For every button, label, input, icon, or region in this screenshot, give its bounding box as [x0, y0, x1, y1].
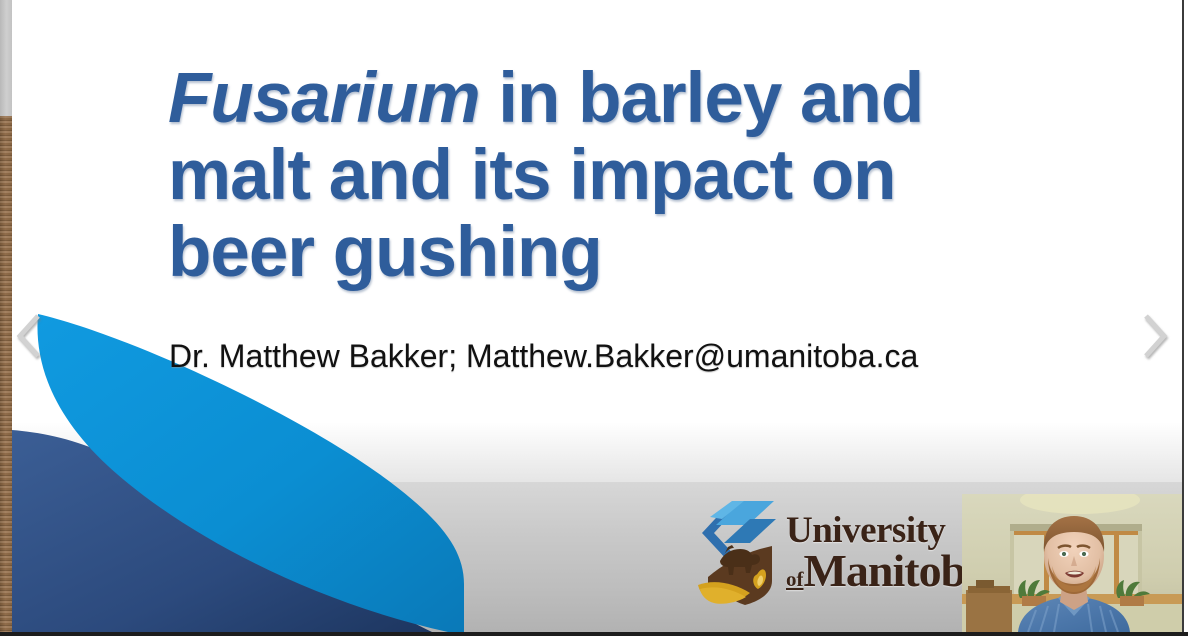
page-title: Fusarium in barley and malt and its impa… [168, 60, 1048, 291]
right-outer-margin [1184, 0, 1188, 636]
slide-viewer: Fusarium in barley and malt and its impa… [0, 0, 1188, 636]
um-wordmark-manitoba-line: ofManitoba [786, 549, 987, 592]
wall-background-strip [0, 0, 12, 116]
um-wordmark: University ofManitoba [786, 514, 987, 592]
um-wordmark-manitoba: Manitoba [804, 545, 988, 596]
slide-subtitle-author: Dr. Matthew Bakker; Matthew.Bakker@umani… [169, 336, 918, 376]
title-line2: malt and its impact on [168, 136, 896, 215]
right-edge-divider [1182, 0, 1184, 636]
um-wordmark-of: of [786, 567, 804, 591]
presenter-webcam-feed[interactable] [962, 494, 1184, 632]
prev-slide-button[interactable] [2, 300, 58, 372]
university-of-manitoba-logo: University ofManitoba [688, 498, 954, 608]
chevron-left-icon [13, 310, 47, 362]
chevron-right-icon [1137, 310, 1171, 362]
next-slide-button[interactable] [1126, 300, 1182, 372]
title-species-name: Fusarium [168, 59, 480, 138]
title-line3: beer gushing [168, 213, 602, 292]
slide-title-block: Fusarium in barley and malt and its impa… [168, 60, 1048, 291]
um-wordmark-university: University [786, 514, 987, 549]
um-crest-icon [688, 499, 780, 607]
bottom-edge-divider [0, 632, 1188, 636]
footer-band-fade [12, 422, 1182, 482]
title-line1-rest: in barley and [480, 59, 924, 138]
